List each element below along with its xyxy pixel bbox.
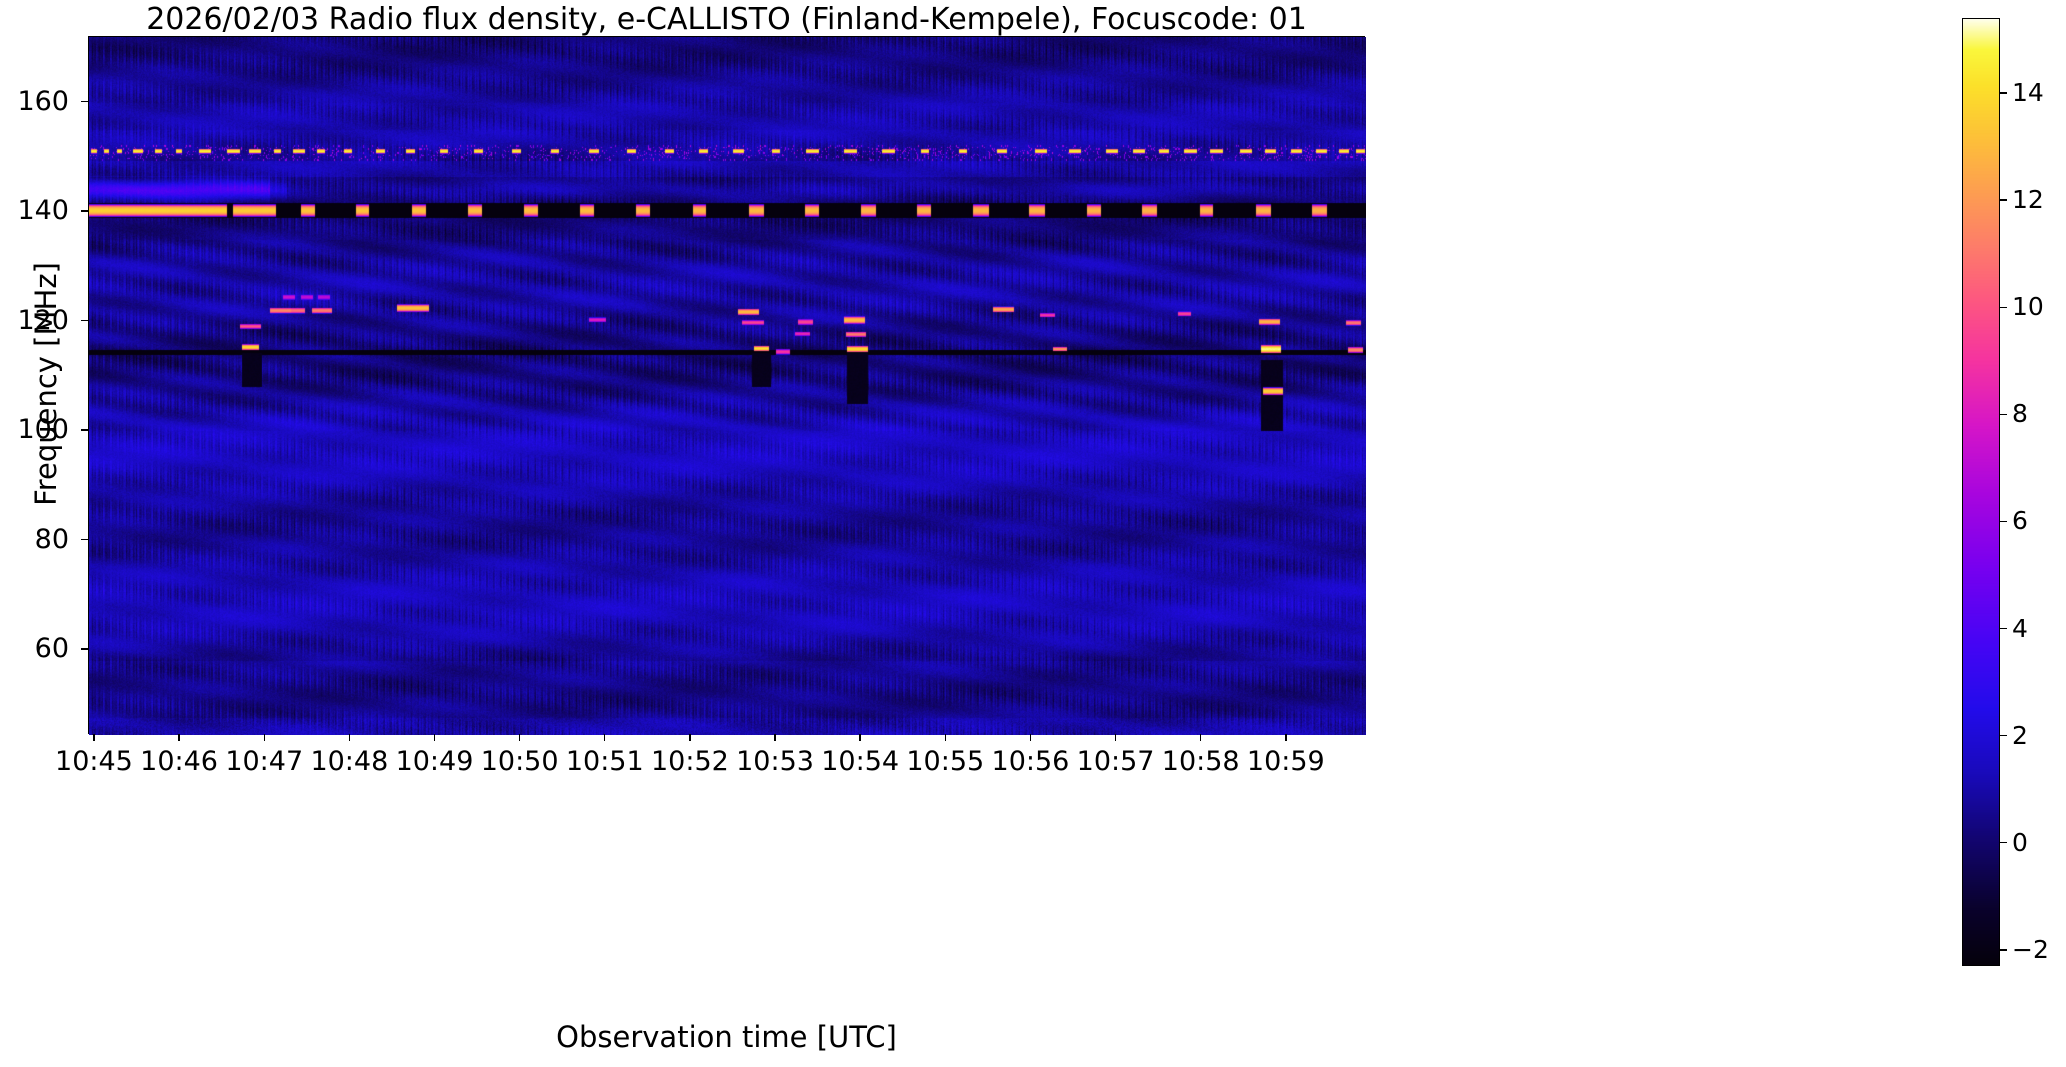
colorbar-tick-mark [2000,92,2007,93]
x-tick-mark [945,734,946,741]
x-tick-mark [1285,734,1286,741]
y-tick-mark [81,429,88,430]
colorbar-tick-mark [2000,949,2007,950]
colorbar-tick-label: 6 [2012,508,2066,533]
x-tick-mark [264,734,265,741]
colorbar-tick-label: 4 [2012,616,2066,641]
colorbar-tick-label: 0 [2012,830,2066,855]
colorbar-gradient [1963,19,1999,965]
spectrogram-plot-area [88,36,1365,734]
x-tick-label: 10:59 [1206,748,1366,775]
x-tick-mark [519,734,520,741]
x-axis-label: Observation time [UTC] [88,1020,1365,1054]
y-tick-label: 60 [0,635,69,662]
colorbar-tick-mark [2000,628,2007,629]
colorbar-tick-mark [2000,521,2007,522]
colorbar-tick-label: −2 [2012,937,2066,962]
x-tick-mark [434,734,435,741]
colorbar-tick-label: 12 [2012,187,2066,212]
x-tick-mark [1030,734,1031,741]
x-tick-mark [93,734,94,741]
figure-title: 2026/02/03 Radio flux density, e-CALLIST… [88,4,1365,36]
colorbar-tick-label: 14 [2012,80,2066,105]
x-tick-mark [178,734,179,741]
y-axis-label-text: Frequency [MHz] [29,184,63,584]
colorbar-tick-mark [2000,842,2007,843]
colorbar-tick-mark [2000,199,2007,200]
spectrogram-image [89,37,1366,735]
x-tick-mark [689,734,690,741]
x-tick-mark [1200,734,1201,741]
colorbar-tick-mark [2000,414,2007,415]
colorbar-tick-label: 10 [2012,294,2066,319]
x-tick-mark [604,734,605,741]
colorbar-tick-label: 8 [2012,401,2066,426]
x-tick-mark [349,734,350,741]
x-tick-mark [859,734,860,741]
spectrogram-figure: 2026/02/03 Radio flux density, e-CALLIST… [0,0,2066,1067]
y-tick-mark [81,210,88,211]
colorbar-tick-mark [2000,735,2007,736]
x-tick-mark [1115,734,1116,741]
y-tick-mark [81,648,88,649]
colorbar-tick-mark [2000,307,2007,308]
y-tick-mark [81,101,88,102]
x-tick-mark [774,734,775,741]
y-tick-mark [81,539,88,540]
y-tick-label: 160 [0,88,69,115]
colorbar [1962,18,2000,966]
colorbar-tick-label: 2 [2012,723,2066,748]
y-tick-mark [81,320,88,321]
